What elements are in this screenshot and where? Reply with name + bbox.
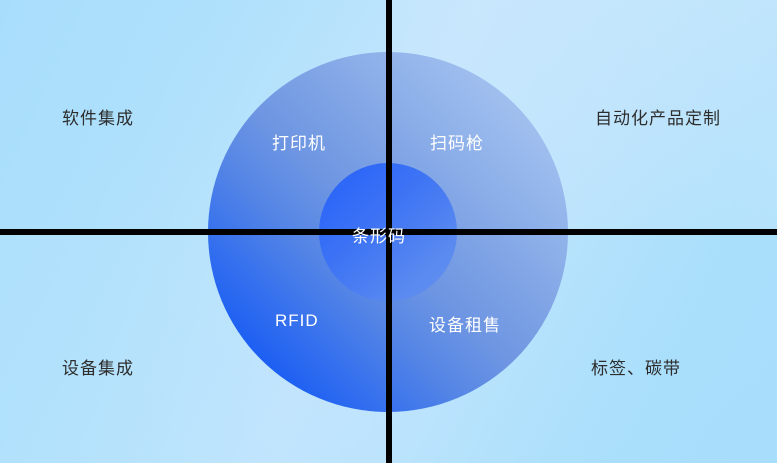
outer-label-software-integration: 软件集成	[62, 104, 134, 129]
inner-label-rfid: RFID	[275, 311, 319, 331]
outer-label-device-integration: 设备集成	[62, 354, 134, 379]
outer-label-automation-customization: 自动化产品定制	[595, 104, 721, 129]
inner-label-printer: 打印机	[272, 129, 326, 154]
outer-label-labels-ribbons: 标签、碳带	[591, 354, 681, 379]
center-label-barcode: 条形码	[352, 222, 406, 247]
inner-label-barcode-scanner: 扫码枪	[430, 129, 484, 154]
diagram-canvas: 软件集成 自动化产品定制 设备集成 标签、碳带 打印机 扫码枪 RFID 设备租…	[0, 0, 777, 463]
inner-label-equipment-rental: 设备租售	[429, 311, 501, 336]
